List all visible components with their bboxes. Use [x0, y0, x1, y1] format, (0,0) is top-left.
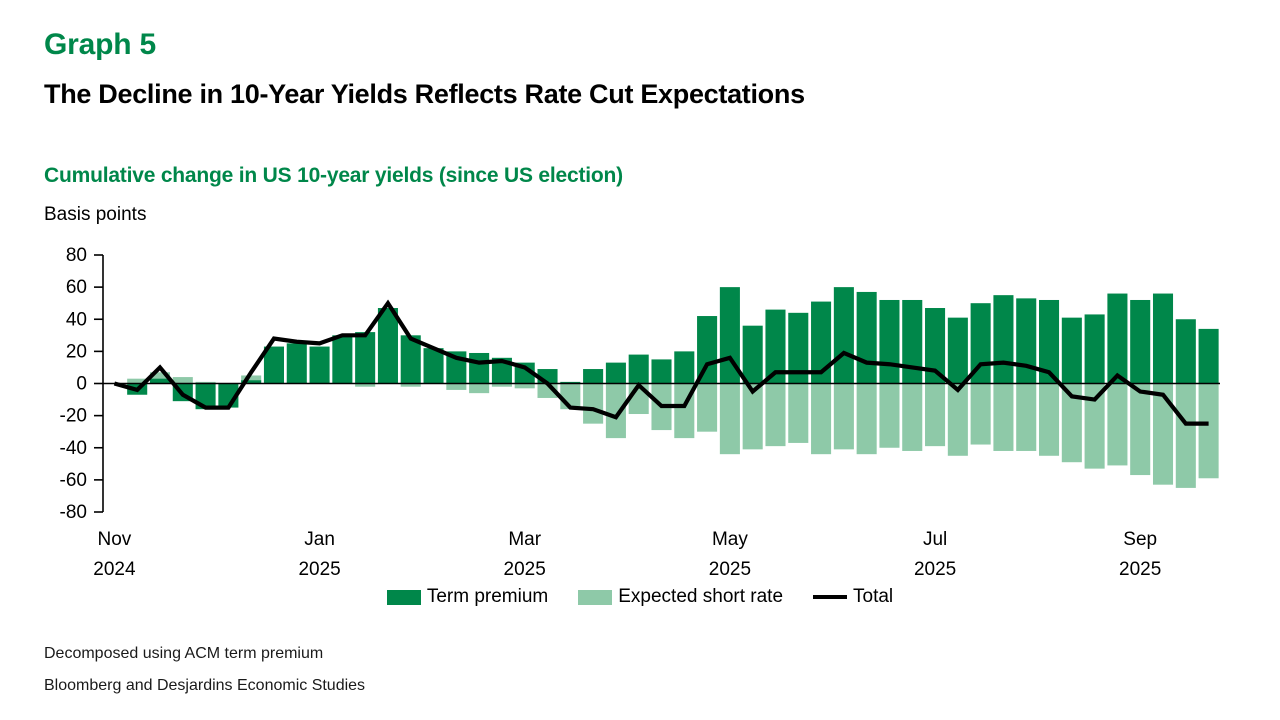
bar-term-premium	[127, 384, 147, 395]
bar-expected-short-rate	[765, 384, 785, 447]
legend-item[interactable]: Expected short rate	[578, 586, 783, 608]
bar-expected-short-rate	[1153, 384, 1173, 485]
bar-term-premium	[492, 358, 512, 384]
chart-page: Graph 5 The Decline in 10-Year Yields Re…	[0, 0, 1280, 720]
bar-expected-short-rate	[1130, 384, 1150, 476]
bar-term-premium	[1107, 294, 1127, 384]
bar-term-premium	[1062, 318, 1082, 384]
bar-expected-short-rate	[264, 375, 284, 383]
bar-term-premium	[834, 287, 854, 383]
bar-term-premium	[332, 335, 352, 383]
bar-term-premium	[583, 369, 603, 383]
page-title: The Decline in 10-Year Yields Reflects R…	[44, 80, 805, 110]
y-tick-label: 80	[66, 245, 87, 266]
legend-line-swatch	[813, 595, 847, 599]
bar-term-premium	[378, 308, 398, 383]
bar-expected-short-rate	[446, 384, 466, 390]
bar-expected-short-rate	[1107, 384, 1127, 466]
bar-expected-short-rate	[1085, 384, 1105, 469]
bar-expected-short-rate	[401, 384, 421, 387]
y-tick-label: -80	[60, 502, 87, 523]
bar-expected-short-rate	[355, 384, 375, 387]
x-tick-label-month: Sep	[1123, 529, 1157, 550]
bar-expected-short-rate	[902, 384, 922, 451]
bar-term-premium	[1176, 319, 1196, 383]
bar-expected-short-rate	[720, 384, 740, 455]
bar-expected-short-rate	[127, 379, 147, 384]
bar-term-premium	[788, 313, 808, 384]
graph-number: Graph 5	[44, 30, 156, 60]
bar-expected-short-rate	[629, 384, 649, 415]
legend-item-label: Term premium	[427, 586, 548, 608]
bar-term-premium	[720, 287, 740, 383]
bar-term-premium	[811, 302, 831, 384]
bar-term-premium	[697, 316, 717, 383]
bar-expected-short-rate	[879, 384, 899, 448]
tick-labels-group: 806040200-20-40-60-80Nov2024Jan2025Mar20…	[60, 245, 1162, 580]
bar-expected-short-rate	[1016, 384, 1036, 451]
bar-term-premium	[857, 292, 877, 384]
bar-expected-short-rate	[378, 379, 398, 384]
bar-term-premium	[287, 343, 307, 383]
bar-term-premium	[537, 369, 557, 383]
bar-term-premium	[993, 295, 1013, 383]
bar-term-premium	[469, 353, 489, 384]
footnote-source: Bloomberg and Desjardins Economic Studie…	[44, 677, 365, 695]
legend-item[interactable]: Total	[813, 586, 893, 608]
bar-expected-short-rate	[948, 384, 968, 456]
bar-term-premium	[560, 382, 580, 384]
bar-term-premium	[241, 380, 261, 383]
bar-expected-short-rate	[537, 384, 557, 398]
bar-term-premium	[1039, 300, 1059, 384]
bar-term-premium	[424, 348, 444, 383]
bar-term-premium	[446, 351, 466, 383]
bar-term-premium	[515, 363, 535, 384]
bar-expected-short-rate	[811, 384, 831, 455]
bar-term-premium	[1016, 298, 1036, 383]
bar-term-premium	[264, 347, 284, 384]
bars-group	[127, 287, 1218, 488]
chart-subtitle: Cumulative change in US 10-year yields (…	[44, 164, 623, 188]
legend-color-swatch	[578, 590, 612, 605]
bar-expected-short-rate	[788, 384, 808, 443]
bar-term-premium	[173, 384, 193, 402]
bar-expected-short-rate	[583, 384, 603, 424]
bar-expected-short-rate	[674, 384, 694, 439]
bar-term-premium	[674, 351, 694, 383]
x-tick-label-year: 2025	[914, 559, 956, 580]
bar-expected-short-rate	[1176, 384, 1196, 488]
bar-expected-short-rate	[1062, 384, 1082, 463]
bar-expected-short-rate	[1199, 384, 1219, 479]
bar-term-premium	[971, 303, 991, 383]
bar-term-premium	[196, 384, 216, 410]
y-tick-label: 40	[66, 309, 87, 330]
bar-expected-short-rate	[1039, 384, 1059, 456]
bar-expected-short-rate	[196, 382, 216, 384]
bar-term-premium	[218, 384, 238, 408]
x-tick-label-month: Jul	[923, 529, 947, 550]
bar-term-premium	[1130, 300, 1150, 384]
bar-term-premium	[925, 308, 945, 383]
legend-color-swatch	[387, 590, 421, 605]
bar-term-premium	[1085, 314, 1105, 383]
y-tick-label: -60	[60, 470, 87, 491]
y-tick-label: 0	[76, 374, 87, 395]
bar-expected-short-rate	[651, 384, 671, 431]
bar-expected-short-rate	[857, 384, 877, 455]
bar-term-premium	[743, 326, 763, 384]
bar-term-premium	[355, 332, 375, 383]
legend-item-label: Total	[853, 586, 893, 608]
total-series-line	[114, 303, 1208, 423]
bar-term-premium	[948, 318, 968, 384]
bar-term-premium	[1199, 329, 1219, 384]
x-tick-label-year: 2025	[709, 559, 751, 580]
bar-expected-short-rate	[515, 384, 535, 389]
bar-expected-short-rate	[560, 384, 580, 410]
bar-expected-short-rate	[173, 377, 193, 383]
bar-term-premium	[1153, 294, 1173, 384]
bar-expected-short-rate	[925, 384, 945, 447]
bar-term-premium	[651, 359, 671, 383]
y-tick-label: -20	[60, 406, 87, 427]
x-tick-label-month: Jan	[304, 529, 335, 550]
bar-term-premium	[629, 355, 649, 384]
legend-item-label: Expected short rate	[618, 586, 783, 608]
y-axis-units-label: Basis points	[44, 204, 146, 226]
legend-item[interactable]: Term premium	[387, 586, 548, 608]
bar-expected-short-rate	[834, 384, 854, 450]
chart-legend: Term premiumExpected short rateTotal	[0, 586, 1280, 608]
x-tick-label-month: Nov	[98, 529, 132, 550]
bar-term-premium	[310, 347, 330, 384]
x-tick-label-year: 2025	[1119, 559, 1161, 580]
bar-term-premium	[765, 310, 785, 384]
x-tick-label-month: Mar	[508, 529, 541, 550]
axis-group	[94, 255, 1220, 512]
bar-expected-short-rate	[993, 384, 1013, 451]
x-tick-label-year: 2025	[298, 559, 340, 580]
bar-expected-short-rate	[743, 384, 763, 450]
bar-expected-short-rate	[492, 384, 512, 387]
y-tick-label: 60	[66, 277, 87, 298]
bar-expected-short-rate	[310, 380, 330, 383]
bar-expected-short-rate	[469, 384, 489, 394]
total-line-group	[114, 303, 1208, 423]
x-tick-label-year: 2025	[504, 559, 546, 580]
bar-term-premium	[902, 300, 922, 384]
bar-term-premium	[879, 300, 899, 384]
x-tick-label-month: May	[712, 529, 748, 550]
bar-expected-short-rate	[971, 384, 991, 445]
bar-expected-short-rate	[287, 382, 307, 384]
bar-expected-short-rate	[150, 372, 170, 383]
bar-expected-short-rate	[697, 384, 717, 432]
y-tick-label: -40	[60, 438, 87, 459]
bar-term-premium	[401, 335, 421, 383]
bar-expected-short-rate	[241, 375, 261, 383]
bar-term-premium	[150, 379, 170, 384]
y-tick-label: 20	[66, 341, 87, 362]
x-tick-label-year: 2024	[93, 559, 136, 580]
bar-expected-short-rate	[606, 384, 626, 439]
footnote-method: Decomposed using ACM term premium	[44, 645, 323, 663]
bar-term-premium	[606, 363, 626, 384]
